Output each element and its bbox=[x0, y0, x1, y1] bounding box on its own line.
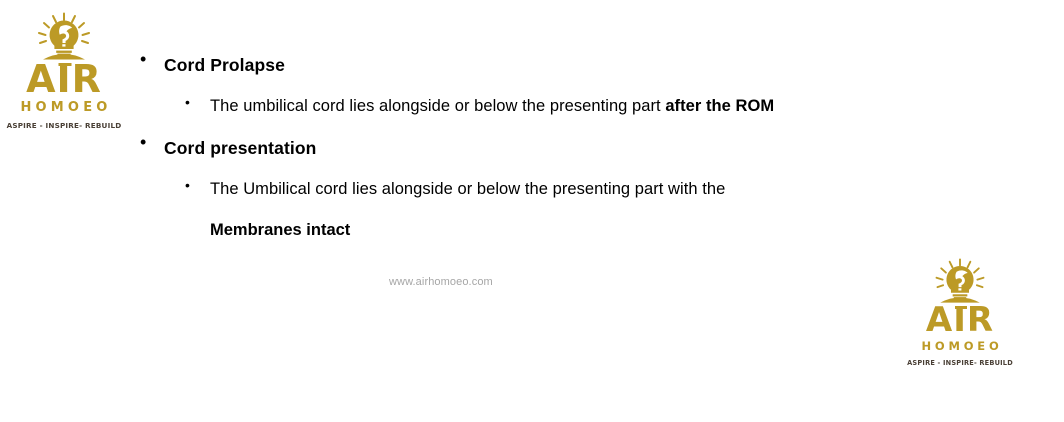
list-item: • Cord Prolapse bbox=[140, 44, 960, 86]
logo-tagline: ASPIRE - INSPIRE- REBUILD bbox=[907, 359, 1013, 367]
list-item-text-plain: The umbilical cord lies alongside or bel… bbox=[210, 97, 665, 115]
list-item-label: Cord presentation bbox=[164, 127, 960, 169]
brand-logo-top-left: AIR HOMOEO ASPIRE - INSPIRE- REBUILD bbox=[14, 12, 114, 130]
bullet-icon: • bbox=[140, 44, 164, 68]
logo-tagline: ASPIRE - INSPIRE- REBUILD bbox=[7, 121, 122, 130]
watermark-url: www.airhomoeo.com bbox=[389, 276, 493, 288]
list-item-text-emphasis: after the ROM bbox=[665, 97, 774, 115]
logo-subtitle: HOMOEO bbox=[921, 339, 1002, 353]
list-item: • Cord presentation bbox=[140, 127, 960, 169]
logo-macron bbox=[59, 63, 72, 66]
list-item: • The Umbilical cord lies alongside or b… bbox=[185, 169, 960, 210]
brand-logo-bottom-right: AIR HOMOEO ASPIRE - INSPIRE- REBUILD bbox=[912, 258, 1008, 367]
list-item-continuation: Membranes intact bbox=[185, 210, 960, 251]
logo-macron bbox=[955, 306, 967, 309]
lightbulb-question-mark-icon bbox=[927, 258, 993, 305]
slide-canvas: AIR HOMOEO ASPIRE - INSPIRE- REBUILD • C… bbox=[0, 0, 1064, 422]
bullet-icon: • bbox=[140, 127, 164, 151]
list-item-label: The umbilical cord lies alongside or bel… bbox=[210, 86, 960, 127]
list-item: • The umbilical cord lies alongside or b… bbox=[185, 86, 960, 127]
slide-body: • Cord Prolapse • The umbilical cord lie… bbox=[140, 44, 960, 251]
logo-wordmark: AIR bbox=[926, 305, 994, 336]
lightbulb-question-mark-icon bbox=[29, 12, 99, 62]
bullet-icon: • bbox=[185, 169, 210, 192]
bullet-icon: • bbox=[185, 86, 210, 109]
list-item-label: The Umbilical cord lies alongside or bel… bbox=[210, 169, 960, 210]
logo-wordmark: AIR bbox=[26, 62, 102, 97]
logo-subtitle: HOMOEO bbox=[20, 100, 111, 115]
list-item-label: Cord Prolapse bbox=[164, 44, 960, 86]
